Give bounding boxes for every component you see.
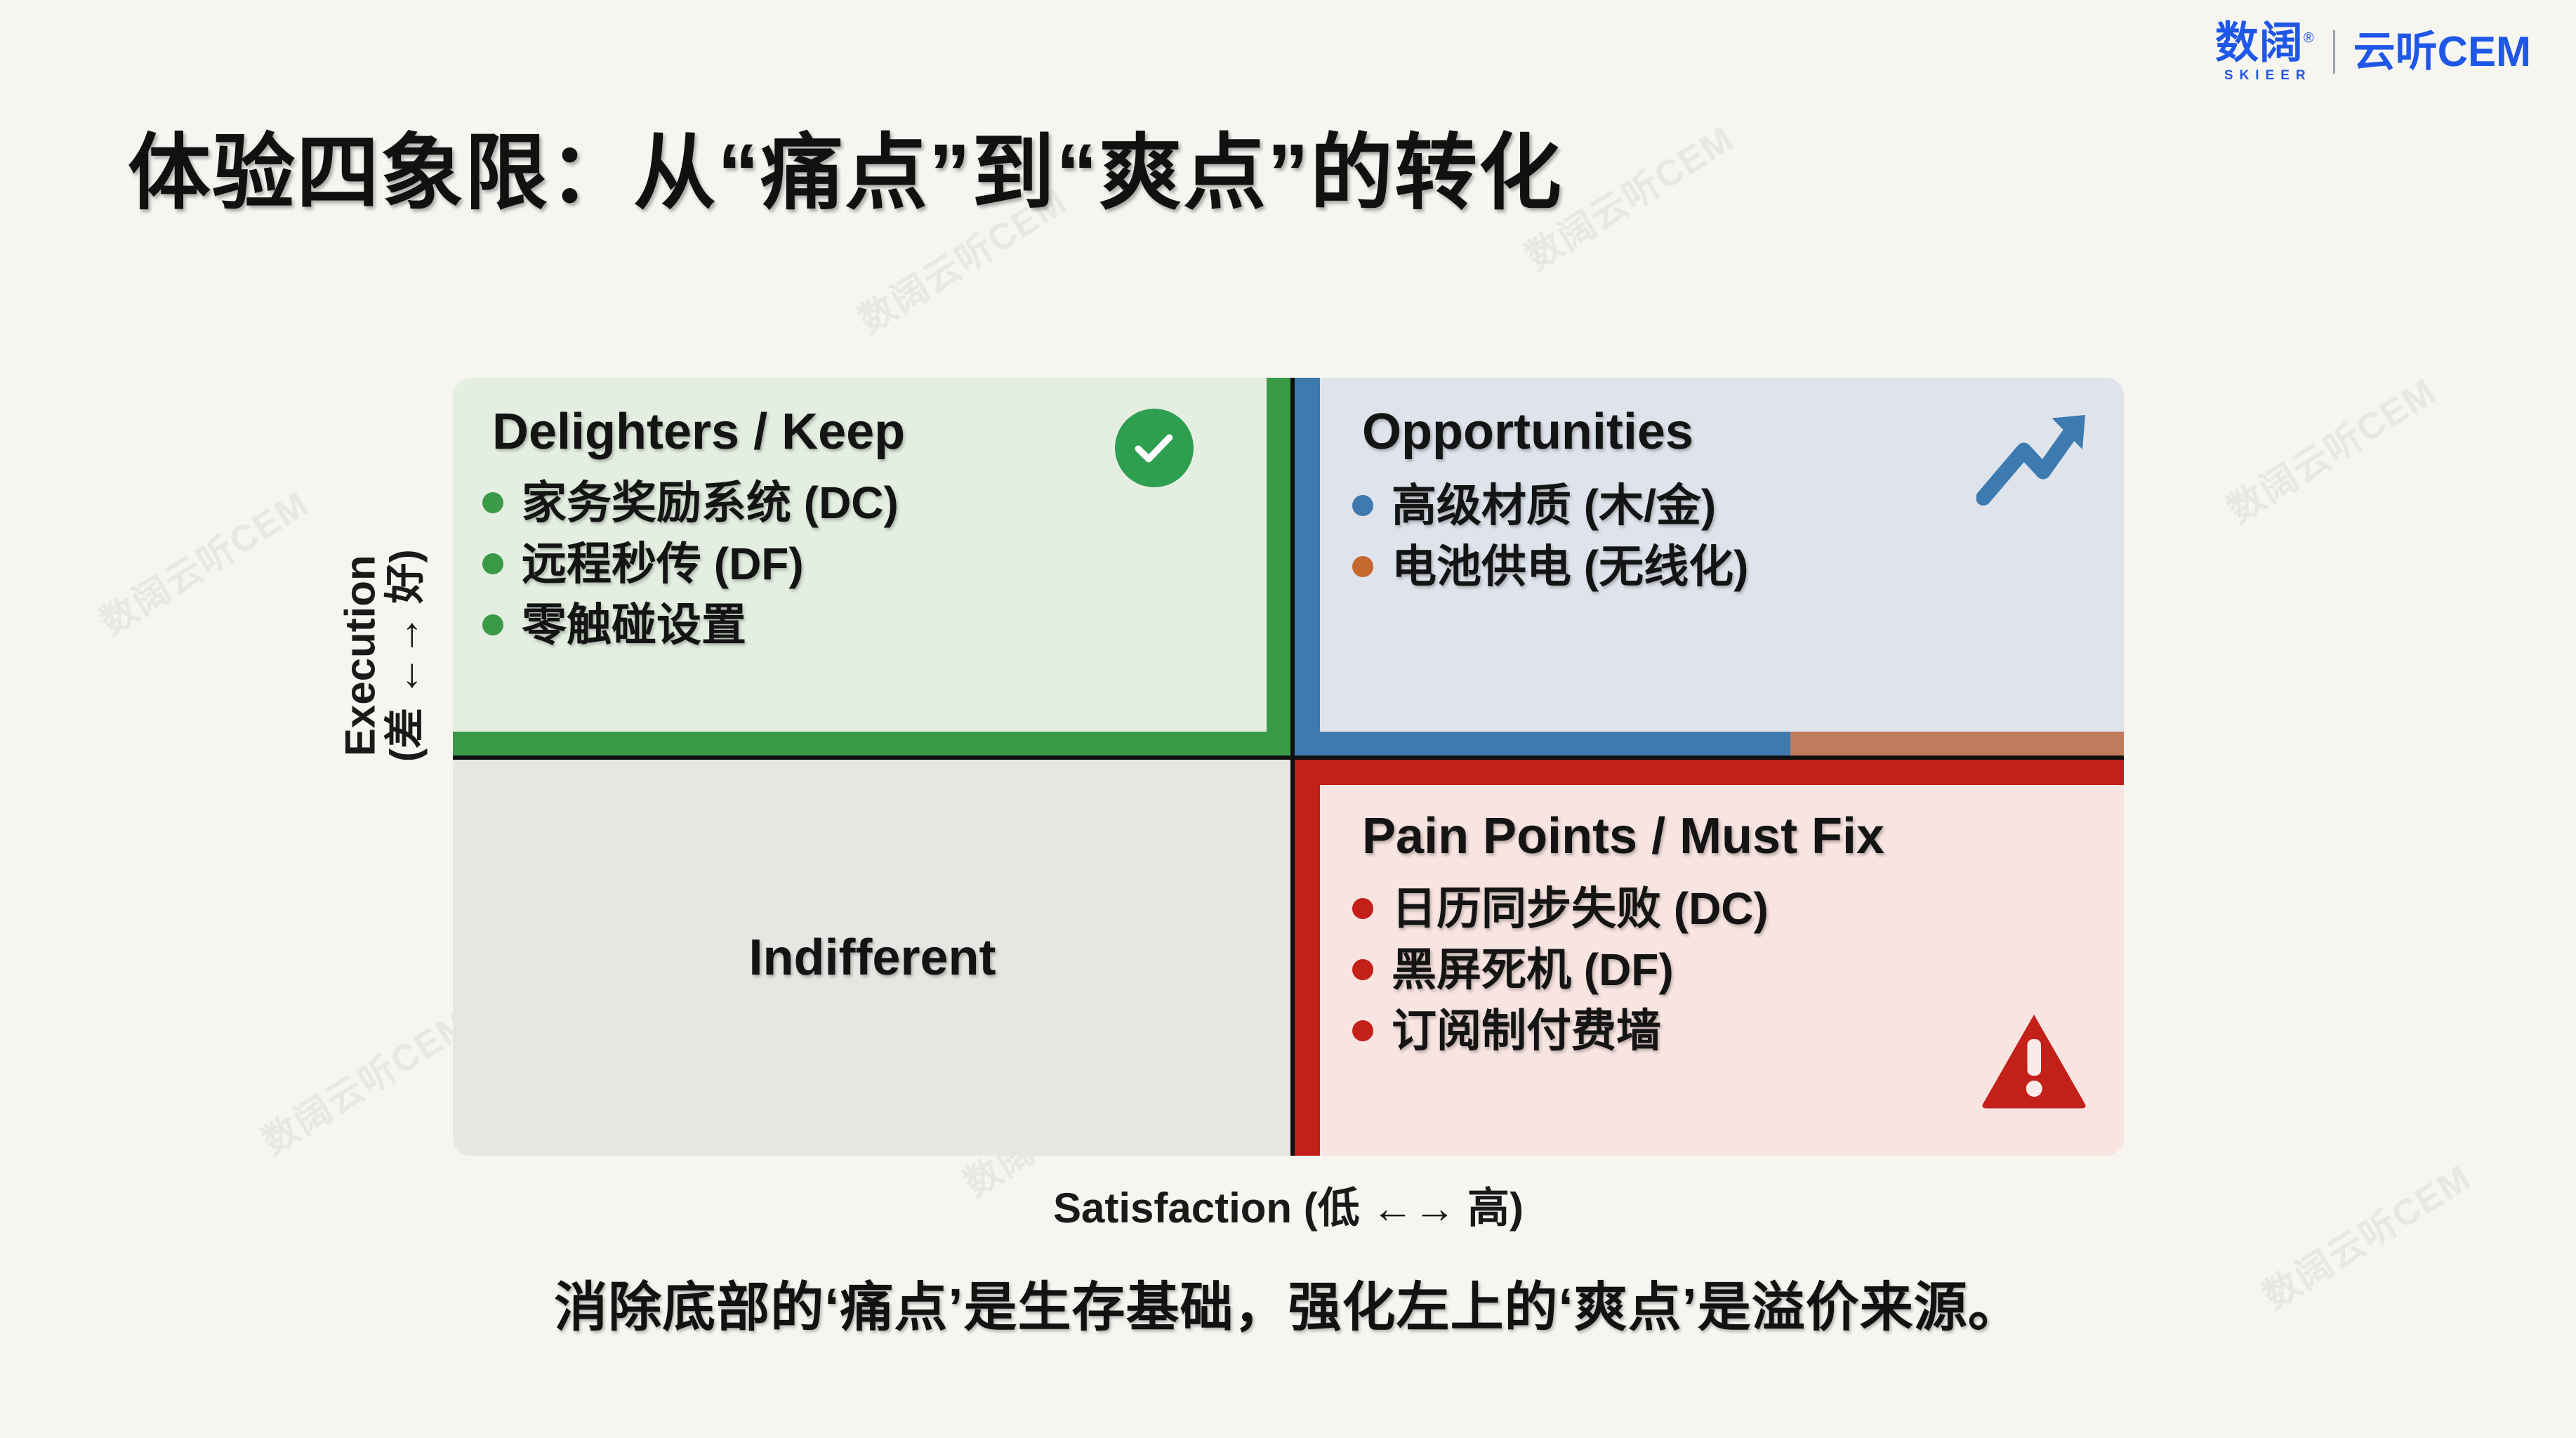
list-item: 日历同步失败 (DC) bbox=[1352, 883, 1769, 935]
y-axis-label-line2: (差 ←→ 好) bbox=[383, 505, 428, 807]
bullet-dot bbox=[482, 614, 503, 635]
list-item: 订阅制付费墙 bbox=[1352, 1005, 1769, 1057]
brand-bar: 数阔® SKIEER 云听CEM bbox=[2215, 20, 2531, 84]
warning-triangle-icon bbox=[1978, 1007, 2090, 1112]
bullet-dot bbox=[1352, 898, 1373, 919]
bullet-dot bbox=[482, 553, 503, 574]
y-axis-label-line1: Execution bbox=[336, 555, 383, 756]
watermark: 数阔云听CEM bbox=[250, 994, 479, 1164]
list-item-label: 高级材质 (木/金) bbox=[1392, 480, 1716, 532]
bullet-dot bbox=[1352, 1020, 1373, 1041]
quadrant-delighters: Delighters / Keep 家务奖励系统 (DC) 远程秒传 (DF) … bbox=[453, 378, 1292, 757]
trending-up-icon bbox=[1976, 403, 2096, 508]
brand-divider bbox=[2333, 30, 2335, 74]
watermark: 数阔云听CEM bbox=[88, 475, 317, 645]
list-item: 黑屏死机 (DF) bbox=[1352, 944, 1769, 996]
quadrant-title-delighters: Delighters / Keep bbox=[492, 403, 905, 461]
list-item-label: 黑屏死机 (DF) bbox=[1392, 944, 1674, 996]
quadrant-accent-bar-orange bbox=[1790, 732, 2124, 757]
y-axis-label: Execution (差 ←→ 好) bbox=[338, 505, 427, 807]
list-item: 远程秒传 (DF) bbox=[482, 539, 899, 590]
quadrant-list-pain-points: 日历同步失败 (DC) 黑屏死机 (DF) 订阅制付费墙 bbox=[1352, 883, 1769, 1067]
axis-line-vertical bbox=[1290, 378, 1295, 1156]
skieer-logo-cn: 数阔® bbox=[2215, 22, 2315, 65]
page-title: 体验四象限：从“痛点”到“爽点”的转化 bbox=[128, 105, 1563, 225]
quadrant-title-pain-points: Pain Points / Must Fix bbox=[1362, 807, 1884, 865]
bullet-dot bbox=[482, 492, 503, 513]
bullet-dot bbox=[1352, 556, 1373, 577]
list-item-label: 电池供电 (无线化) bbox=[1392, 541, 1748, 593]
summary-caption: 消除底部的‘痛点’是生存基础，强化左上的‘爽点’是溢价来源。 bbox=[0, 1264, 2576, 1341]
quadrant-list-opportunities: 高级材质 (木/金) 电池供电 (无线化) bbox=[1352, 480, 1748, 602]
quadrant-indifferent: Indifferent bbox=[453, 760, 1292, 1156]
list-item: 电池供电 (无线化) bbox=[1352, 541, 1748, 593]
bullet-dot bbox=[1352, 495, 1373, 516]
quadrant-pain-points: Pain Points / Must Fix 日历同步失败 (DC) 黑屏死机 … bbox=[1295, 760, 2124, 1156]
registered-mark-icon: ® bbox=[2304, 30, 2315, 46]
list-item-label: 远程秒传 (DF) bbox=[522, 539, 804, 590]
product-name: 云听CEM bbox=[2353, 31, 2531, 73]
list-item-label: 零触碰设置 bbox=[522, 600, 746, 651]
list-item-label: 订阅制付费墙 bbox=[1392, 1005, 1661, 1057]
check-circle-icon bbox=[1115, 409, 1194, 487]
watermark: 数阔云听CEM bbox=[2216, 362, 2445, 532]
quadrant-opportunities: Opportunities 高级材质 (木/金) 电池供电 (无线化) bbox=[1295, 378, 2124, 757]
list-item: 零触碰设置 bbox=[482, 600, 899, 651]
quadrant-matrix: Delighters / Keep 家务奖励系统 (DC) 远程秒传 (DF) … bbox=[453, 378, 2124, 1156]
list-item: 家务奖励系统 (DC) bbox=[482, 477, 899, 529]
list-item-label: 日历同步失败 (DC) bbox=[1392, 883, 1769, 935]
skieer-logo-en: SKIEER bbox=[2218, 69, 2312, 82]
quadrant-title-indifferent: Indifferent bbox=[453, 929, 1292, 987]
quadrant-list-delighters: 家务奖励系统 (DC) 远程秒传 (DF) 零触碰设置 bbox=[482, 477, 899, 661]
skieer-logo: 数阔® SKIEER bbox=[2215, 22, 2315, 82]
quadrant-title-opportunities: Opportunities bbox=[1362, 403, 1693, 461]
x-axis-label: Satisfaction (低 ←→ 高) bbox=[453, 1174, 2124, 1235]
axis-line-horizontal bbox=[453, 756, 2124, 760]
list-item: 高级材质 (木/金) bbox=[1352, 480, 1748, 532]
list-item-label: 家务奖励系统 (DC) bbox=[522, 477, 899, 529]
bullet-dot bbox=[1352, 959, 1373, 980]
